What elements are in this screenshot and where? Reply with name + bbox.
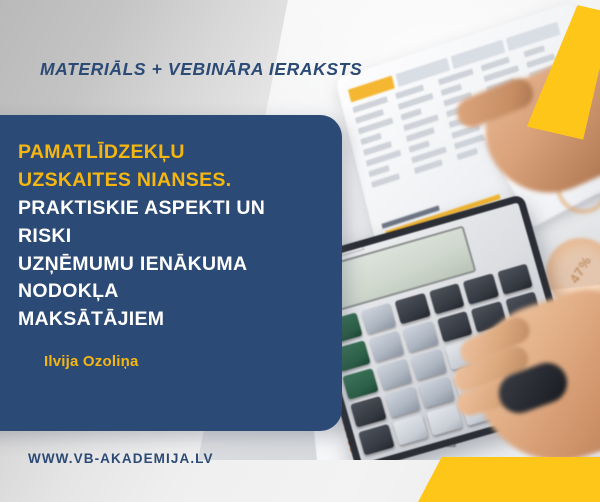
page-title: PAMATLĪDZEKĻU UZSKAITES NIANSES. PRAKTIS… (18, 139, 298, 334)
spreadsheet-cell (368, 165, 389, 177)
speaker-name: Ilvija Ozoliņa (44, 353, 139, 370)
spreadsheet-cell (441, 84, 462, 96)
headline-line-5: UZŅĒMUMU IENĀKUMA (18, 251, 298, 279)
content-panel: PAMATLĪDZEKĻU UZSKAITES NIANSES. PRAKTIS… (0, 115, 342, 431)
headline-line-7: MAKSĀTĀJIEM (18, 306, 298, 334)
headline-block: PAMATLĪDZEKĻU UZSKAITES NIANSES. PRAKTIS… (18, 139, 298, 334)
yellow-accent-block (418, 457, 600, 502)
spreadsheet-cell (457, 148, 478, 160)
kicker-text: MATERIĀLS + VEBINĀRA IERAKSTS (40, 59, 362, 80)
spreadsheet-cell (524, 45, 545, 57)
headline-line-1: PAMATLĪDZEKĻU (18, 139, 298, 167)
webinar-promo-banner: SIZE ENT 47% (0, 0, 600, 502)
website-url: WWW.VB-AKADEMIJA.LV (28, 451, 214, 466)
spreadsheet-cell (360, 133, 381, 145)
spreadsheet-cell (408, 140, 429, 152)
headline-line-6: NODOKĻA (18, 278, 298, 306)
spreadsheet-cell (400, 108, 421, 120)
headline-line-4: RISKI (18, 223, 298, 251)
headline-line-3: PRAKTISKIE ASPEKTI UN (18, 195, 298, 223)
headline-line-2: UZSKAITES NIANSES. (18, 167, 298, 195)
